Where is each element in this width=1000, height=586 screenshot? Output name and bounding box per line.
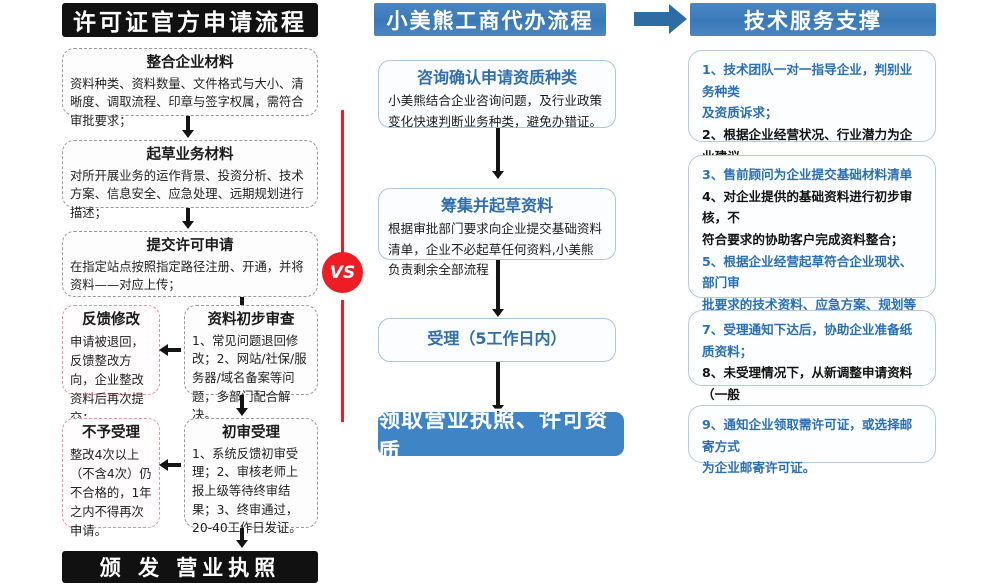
right-group-3-line-2: 8、未受理情况下，从新调整申请资料（一般 [702, 362, 923, 405]
middle-step-2-heading: 筹集并起草资料 [388, 195, 606, 217]
right-group-2-line-1: 3、售前顾问为企业提交基础材料清单 [702, 164, 923, 186]
transition-arrow-head [669, 4, 687, 34]
left-step-4-body: 1、常见问题退回修改；2、网站/社保/服务器/域名备案等问题，多部门配合解决。 [192, 332, 310, 425]
right-group-3-line-1: 7、受理通知下达后，协助企业准备纸质资料； [702, 319, 923, 362]
middle-connector-2-arrowhead [492, 309, 504, 317]
left-step-4-heading: 资料初步审查 [192, 311, 310, 331]
transition-arrow-shaft [634, 12, 670, 26]
right-group-1: 1、技术团队一对一指导企业，判别业务种类 及资质诉求； 2、根据企业经营状况、行… [688, 50, 936, 142]
left-reject-2-body: 整改4次以上（不含4次）仍不合格的，1年之内不得再次申请。 [70, 446, 152, 541]
right-column-title: 技术服务支撑 [690, 3, 936, 36]
left-step-5-body: 1、系统反馈初审受理；2、审核老师上报上级等待终审结果；3、终审通过，20-40… [192, 445, 310, 538]
left-reject-1: 反馈修改 申请被退回，反馈整改方向，企业整改资料后再次提交； [62, 305, 160, 395]
left-column-footer: 颁 发 营业执照 [62, 551, 318, 583]
left-connector-2 [186, 208, 190, 222]
left-connector-4-arrowhead [236, 408, 248, 416]
right-group-2-line-3: 符合要求的协助客户完成资料整合； [702, 229, 923, 251]
vs-divider-line-bottom [341, 300, 344, 422]
left-step-5: 初审受理 1、系统反馈初审受理；2、审核老师上报上级等待终审结果；3、终审通过，… [184, 418, 318, 528]
middle-result-box: 领取营业执照、许可资质 [378, 412, 624, 456]
left-reject-1-body: 申请被退回，反馈整改方向，企业整改资料后再次提交； [70, 333, 152, 428]
flowchart-canvas: 许可证官方申请流程 整合企业材料 资料种类、资料数量、文件格式与大小、清晰度、调… [0, 0, 1000, 586]
vs-badge: VS [322, 252, 363, 293]
right-group-4-line-1: 9、通知企业领取需许可证，或选择邮寄方式 [702, 414, 923, 457]
left-reject-2-heading: 不予受理 [70, 424, 152, 444]
middle-connector-1-arrowhead [492, 171, 504, 179]
right-group-1-line-2: 及资质诉求； [702, 102, 923, 124]
left-connector-2-arrowhead [182, 221, 194, 229]
left-step-1-body: 资料种类、资料数量、文件格式与大小、清晰度、调取流程、印章与签字权属，需符合审批… [70, 75, 310, 131]
left-reject-1-arrowhead [159, 344, 168, 356]
left-connector-5-arrowhead [236, 540, 248, 548]
left-step-3-heading: 提交许可申请 [70, 237, 310, 257]
right-group-4: 9、通知企业领取需许可证，或选择邮寄方式 为企业邮寄许可证。 [688, 405, 936, 463]
right-group-1-line-1: 1、技术团队一对一指导企业，判别业务种类 [702, 59, 923, 102]
left-step-5-heading: 初审受理 [192, 424, 310, 444]
left-step-2: 起草业务材料 对所开展业务的运作背景、投资分析、技术方案、信息安全、应急处理、远… [62, 140, 318, 208]
vs-divider-line-top [341, 110, 344, 255]
middle-step-3: 受理（5工作日内） [378, 318, 616, 362]
left-connector-4 [240, 395, 244, 409]
middle-step-2: 筹集并起草资料 根据审批部门要求向企业提交基础资料清单，企业不必起草任何资料,小… [378, 188, 616, 260]
left-step-2-heading: 起草业务材料 [70, 146, 310, 166]
left-step-3: 提交许可申请 在指定站点按照指定路径注册、开通，并将资料——对应上传； [62, 231, 318, 297]
middle-step-1-heading: 咨询确认申请资质种类 [388, 67, 606, 89]
left-reject-2: 不予受理 整改4次以上（不含4次）仍不合格的，1年之内不得再次申请。 [62, 418, 160, 528]
right-group-4-line-2: 为企业邮寄许可证。 [702, 457, 923, 479]
middle-step-3-heading: 受理（5工作日内） [427, 328, 566, 350]
left-step-1: 整合企业材料 资料种类、资料数量、文件格式与大小、清晰度、调取流程、印章与签字权… [62, 48, 318, 116]
middle-step-1-body: 小美熊结合企业咨询问题，及行业政策变化快速判断业务种类，避免办错证。 [388, 91, 606, 131]
left-step-1-heading: 整合企业材料 [70, 54, 310, 74]
left-reject-2-connector [168, 463, 181, 467]
left-connector-1 [186, 116, 190, 131]
left-reject-2-arrowhead [159, 459, 168, 471]
left-column-title: 许可证官方申请流程 [62, 3, 318, 37]
left-reject-1-connector [168, 348, 181, 352]
middle-connector-2 [496, 260, 500, 310]
right-group-2: 3、售前顾问为企业提交基础材料清单 4、对企业提供的基础资料进行初步审核，不 符… [688, 155, 936, 298]
right-group-2-line-4: 5、根据企业经营起草符合企业现状、部门审 [702, 251, 923, 294]
left-step-4: 资料初步审查 1、常见问题退回修改；2、网站/社保/服务器/域名备案等问题，多部… [184, 305, 318, 395]
middle-column-title: 小美熊工商代办流程 [374, 3, 606, 36]
left-reject-1-heading: 反馈修改 [70, 311, 152, 331]
left-connector-1-arrowhead [182, 130, 194, 138]
left-step-2-body: 对所开展业务的运作背景、投资分析、技术方案、信息安全、应急处理、远期规划进行描述… [70, 167, 310, 223]
left-step-3-body: 在指定站点按照指定路径注册、开通，并将资料——对应上传； [70, 258, 310, 295]
middle-connector-3 [496, 362, 500, 406]
right-group-3: 7、受理通知下达后，协助企业准备纸质资料； 8、未受理情况下，从新调整申请资料（… [688, 310, 936, 386]
middle-step-1: 咨询确认申请资质种类 小美熊结合企业咨询问题，及行业政策变化快速判断业务种类，避… [378, 60, 616, 128]
middle-connector-1 [496, 128, 500, 172]
right-group-2-line-2: 4、对企业提供的基础资料进行初步审核，不 [702, 186, 923, 229]
